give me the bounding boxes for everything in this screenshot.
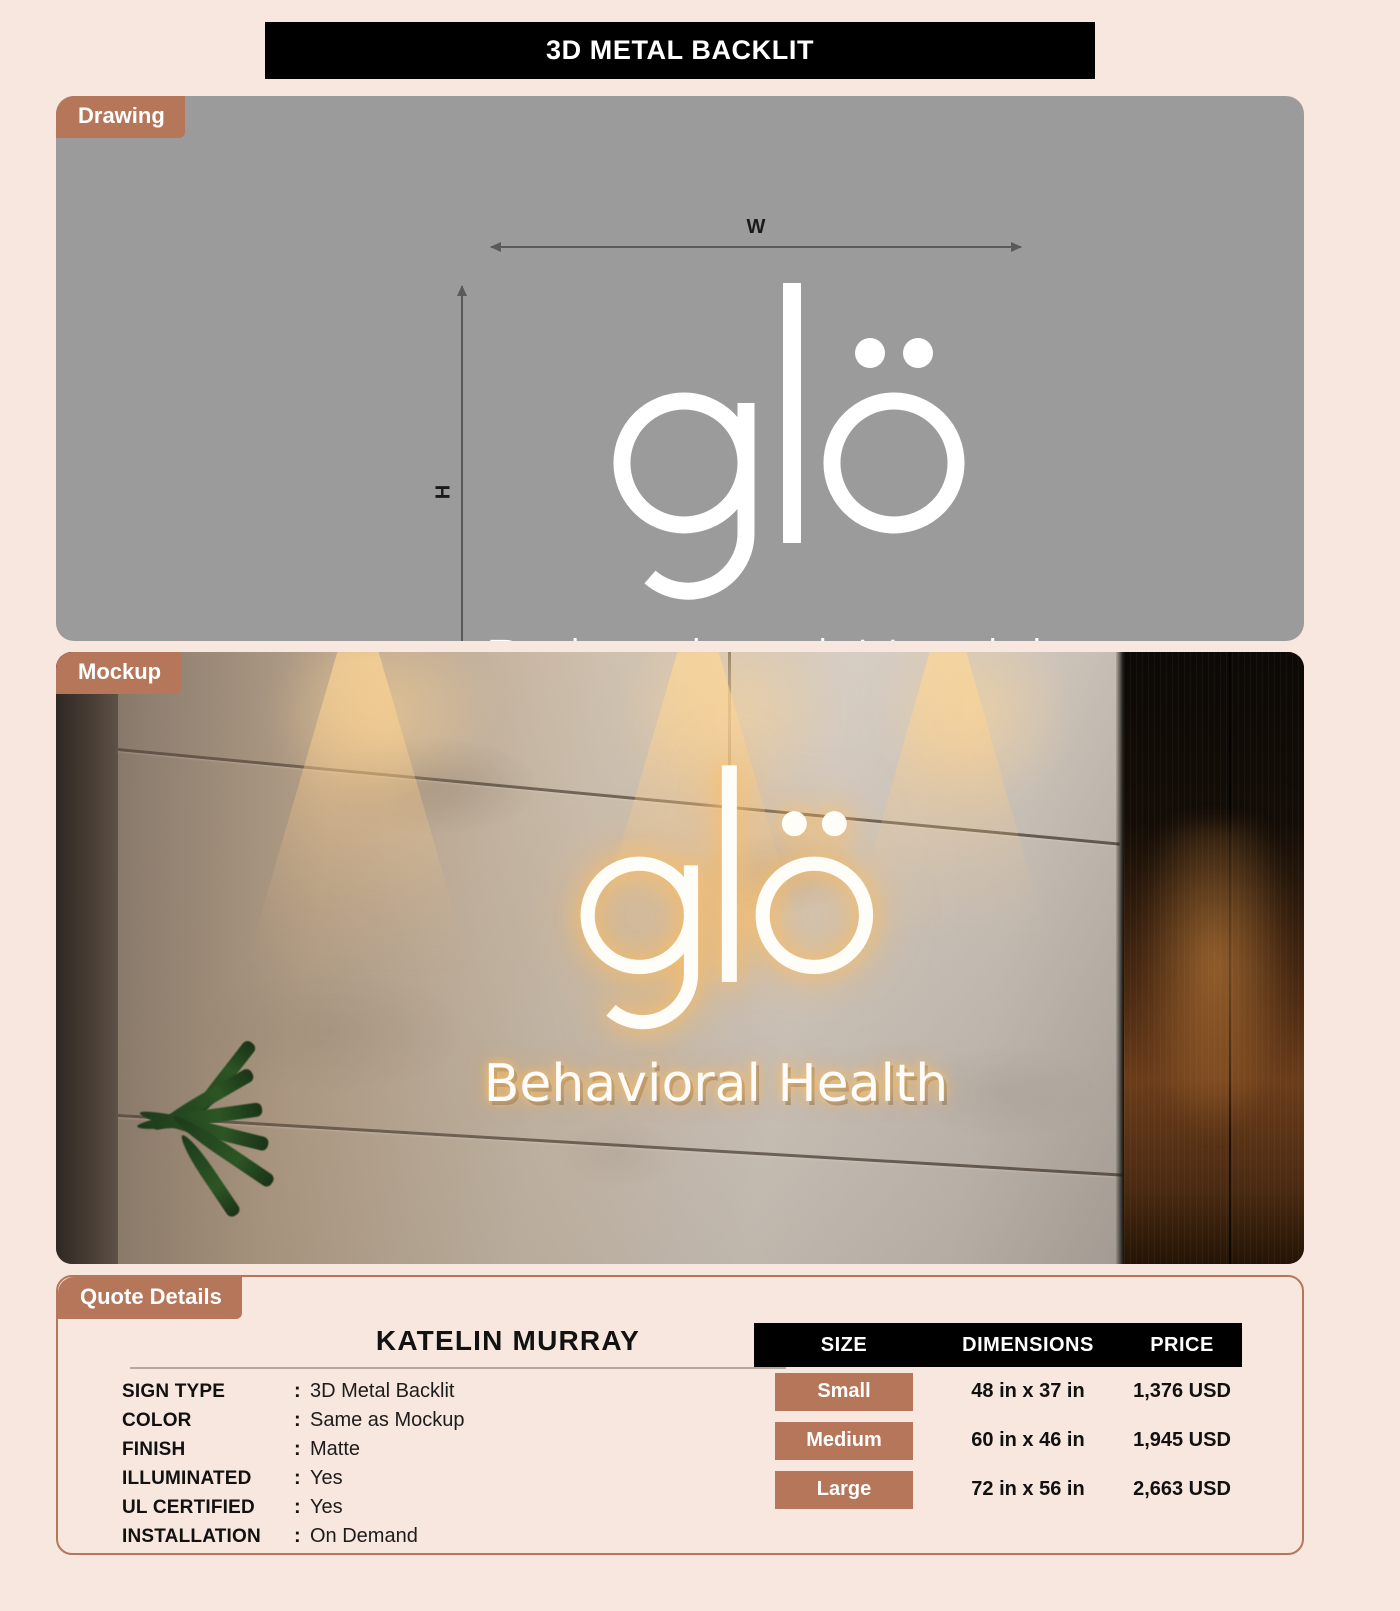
wood-panel-spotlight [1132, 822, 1297, 1264]
spec-row: COLOR : Same as Mockup [122, 1410, 802, 1430]
width-dimension-label: W [747, 216, 766, 239]
column-header-size: SIZE [754, 1334, 934, 1357]
width-dimension-line [491, 246, 1021, 248]
dimensions-cell: 48 in x 37 in [934, 1380, 1122, 1403]
spec-colon: : [294, 1439, 310, 1459]
wood-panel [1124, 652, 1304, 1264]
spec-key: ILLUMINATED [122, 1469, 294, 1488]
spec-row: INSTALLATION : On Demand [122, 1526, 802, 1546]
arrow-right-icon [1011, 242, 1022, 252]
quote-tab-label: Quote Details [58, 1277, 242, 1319]
price-table-header: SIZE DIMENSIONS PRICE [754, 1323, 1242, 1367]
spec-key: INSTALLATION [122, 1527, 294, 1546]
size-cell: Small [754, 1367, 934, 1416]
spec-colon: : [294, 1497, 310, 1517]
size-badge: Small [775, 1373, 913, 1411]
spec-row: FINISH : Matte [122, 1439, 802, 1459]
quote-details-panel: Quote Details KATELIN MURRAY SIGN TYPE :… [56, 1275, 1304, 1555]
table-row: Large 72 in x 56 in 2,663 USD [754, 1465, 1242, 1514]
drawing-logo: Behavioral Health [476, 261, 1076, 641]
spec-value: Yes [310, 1468, 343, 1488]
size-badge: Large [775, 1471, 913, 1509]
spec-row: UL CERTIFIED : Yes [122, 1497, 802, 1517]
spec-colon: : [294, 1526, 310, 1546]
dimensions-cell: 72 in x 56 in [934, 1478, 1122, 1501]
arrow-up-icon [457, 285, 467, 296]
spec-key: SIGN TYPE [122, 1382, 294, 1401]
drawing-stage: W H [56, 96, 1304, 641]
spec-key: COLOR [122, 1411, 294, 1430]
mockup-sign: Behavioral Health [456, 747, 976, 1177]
dimensions-cell: 60 in x 46 in [934, 1429, 1122, 1452]
height-dimension-line [461, 286, 463, 641]
quote-details-body: KATELIN MURRAY SIGN TYPE : 3D Metal Back… [58, 1277, 1302, 1553]
drawing-logo-subtext: Behavioral Health [482, 627, 1070, 641]
quote-sheet-page: 3D METAL BACKLIT Drawing W H [0, 0, 1400, 1611]
price-cell: 1,945 USD [1122, 1429, 1242, 1452]
size-cell: Medium [754, 1416, 934, 1465]
column-header-dimensions: DIMENSIONS [934, 1334, 1122, 1357]
height-dimension-label: H [433, 485, 456, 499]
price-cell: 1,376 USD [1122, 1380, 1242, 1403]
price-cell: 2,663 USD [1122, 1478, 1242, 1501]
name-divider [130, 1367, 786, 1369]
customer-name: KATELIN MURRAY [238, 1325, 778, 1357]
column-header-price: PRICE [1122, 1334, 1242, 1357]
glo-wordmark-icon [546, 747, 886, 1047]
spec-value: 3D Metal Backlit [310, 1381, 455, 1401]
spec-value: Matte [310, 1439, 360, 1459]
spec-row: ILLUMINATED : Yes [122, 1468, 802, 1488]
spec-key: FINISH [122, 1440, 294, 1459]
spec-key: UL CERTIFIED [122, 1498, 294, 1517]
table-row: Small 48 in x 37 in 1,376 USD [754, 1367, 1242, 1416]
width-dimension-arrow: W [491, 246, 1021, 248]
table-row: Medium 60 in x 46 in 1,945 USD [754, 1416, 1242, 1465]
spec-value: On Demand [310, 1526, 418, 1546]
drawing-panel: Drawing W H [56, 96, 1304, 641]
page-title-bar: 3D METAL BACKLIT [265, 22, 1095, 79]
size-cell: Large [754, 1465, 934, 1514]
palm-plant [108, 1010, 308, 1264]
spec-colon: : [294, 1410, 310, 1430]
spec-list: SIGN TYPE : 3D Metal Backlit COLOR : Sam… [122, 1381, 802, 1555]
drawing-tab-label: Drawing [56, 96, 185, 138]
mockup-panel: Behavioral Health Mockup [56, 652, 1304, 1264]
page-title: 3D METAL BACKLIT [546, 35, 814, 66]
spec-colon: : [294, 1468, 310, 1488]
mockup-scene: Behavioral Health [56, 652, 1304, 1264]
height-dimension-arrow: H [461, 286, 463, 641]
arrow-left-icon [490, 242, 501, 252]
spec-colon: : [294, 1381, 310, 1401]
mockup-logo-glow [546, 747, 886, 1052]
size-badge: Medium [775, 1422, 913, 1460]
glo-wordmark-icon [576, 261, 976, 621]
price-table: SIZE DIMENSIONS PRICE Small 48 in x 37 i… [754, 1323, 1242, 1514]
spec-value: Same as Mockup [310, 1410, 465, 1430]
spec-row: SIGN TYPE : 3D Metal Backlit [122, 1381, 802, 1401]
mockup-tab-label: Mockup [56, 652, 181, 694]
spec-value: Yes [310, 1497, 343, 1517]
mockup-logo-subtext: Behavioral Health [484, 1054, 949, 1114]
